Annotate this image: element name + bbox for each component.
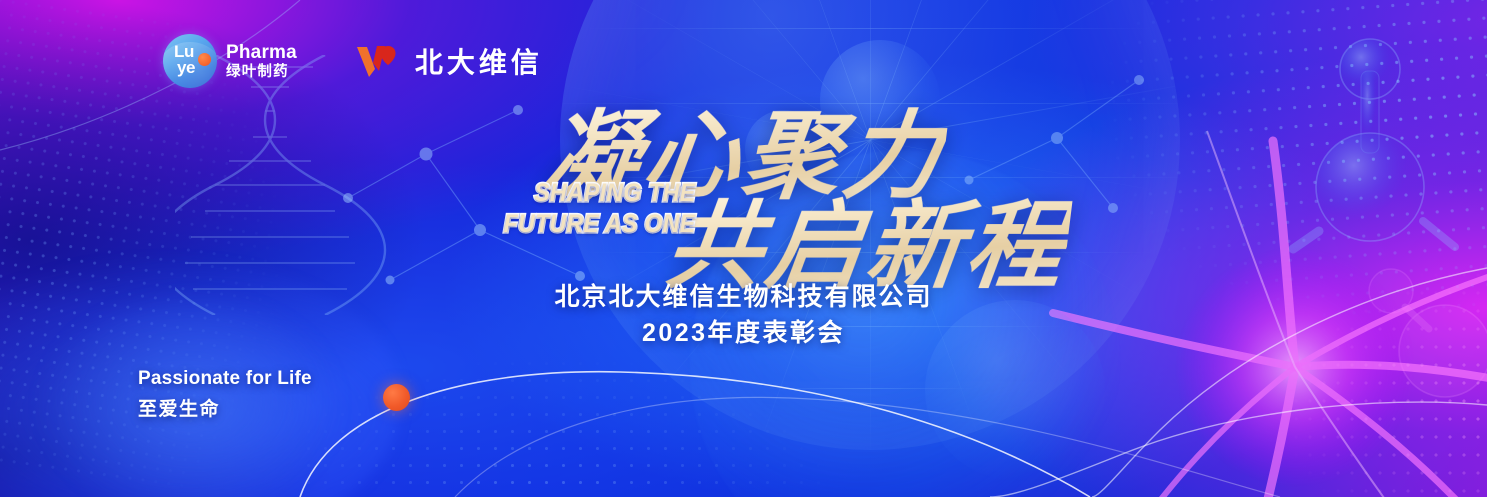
subtitle-block: 北京北大维信生物科技有限公司 2023年度表彰会 — [0, 280, 1487, 351]
tagline-block: Passionate for Life 至爱生命 — [138, 368, 312, 421]
tagline-cn: 至爱生命 — [138, 394, 312, 421]
headline-en-line2: FUTURE AS ONE — [504, 209, 696, 240]
headline-block: 凝心聚力 共启新程 SHAPING THE FUTURE AS ONE — [0, 0, 1487, 497]
headline-en-block: SHAPING THE FUTURE AS ONE — [504, 178, 696, 239]
headline-en-line1: SHAPING THE — [504, 178, 696, 209]
subtitle-company-name: 北京北大维信生物科技有限公司 — [0, 280, 1487, 316]
subtitle-event-name: 2023年度表彰会 — [0, 316, 1487, 352]
event-banner: Lu ye Pharma 绿叶制药 北大维信 凝心聚力 共启新程 SHAPING… — [0, 0, 1487, 497]
tagline-en: Passionate for Life — [138, 368, 312, 390]
